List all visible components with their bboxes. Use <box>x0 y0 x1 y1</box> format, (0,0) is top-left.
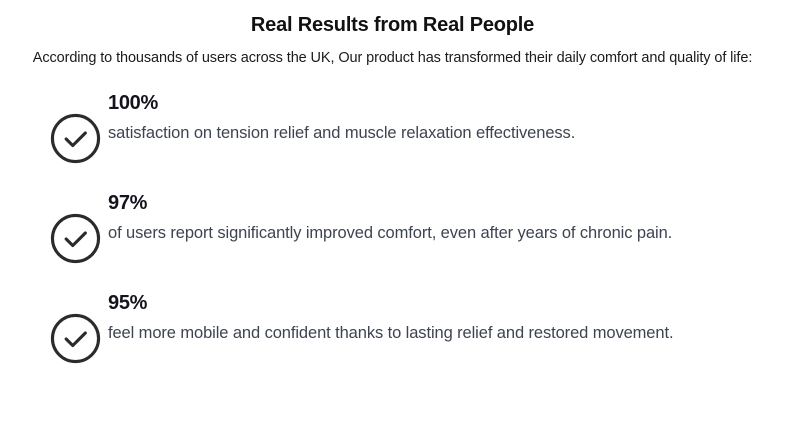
check-circle-icon <box>50 113 101 164</box>
check-circle-icon <box>50 213 101 264</box>
results-section: Real Results from Real People According … <box>0 0 785 430</box>
list-item: 95% feel more mobile and confident thank… <box>0 290 785 364</box>
list-item: 97% of users report significantly improv… <box>0 190 785 264</box>
page-title: Real Results from Real People <box>0 0 785 38</box>
stat-value: 95% <box>108 290 757 316</box>
stat-value: 97% <box>108 190 757 216</box>
stat-body: 97% of users report significantly improv… <box>101 190 757 248</box>
stat-body: 95% feel more mobile and confident thank… <box>101 290 757 348</box>
stat-body: 100% satisfaction on tension relief and … <box>101 90 757 148</box>
stats-list: 100% satisfaction on tension relief and … <box>0 90 785 364</box>
list-item: 100% satisfaction on tension relief and … <box>0 90 785 164</box>
page-subtitle: According to thousands of users across t… <box>0 38 785 68</box>
stat-description: of users report significantly improved c… <box>108 218 757 248</box>
stat-value: 100% <box>108 90 757 116</box>
check-circle-icon <box>50 313 101 364</box>
stat-description: feel more mobile and confident thanks to… <box>108 318 757 348</box>
stat-description: satisfaction on tension relief and muscl… <box>108 118 757 148</box>
